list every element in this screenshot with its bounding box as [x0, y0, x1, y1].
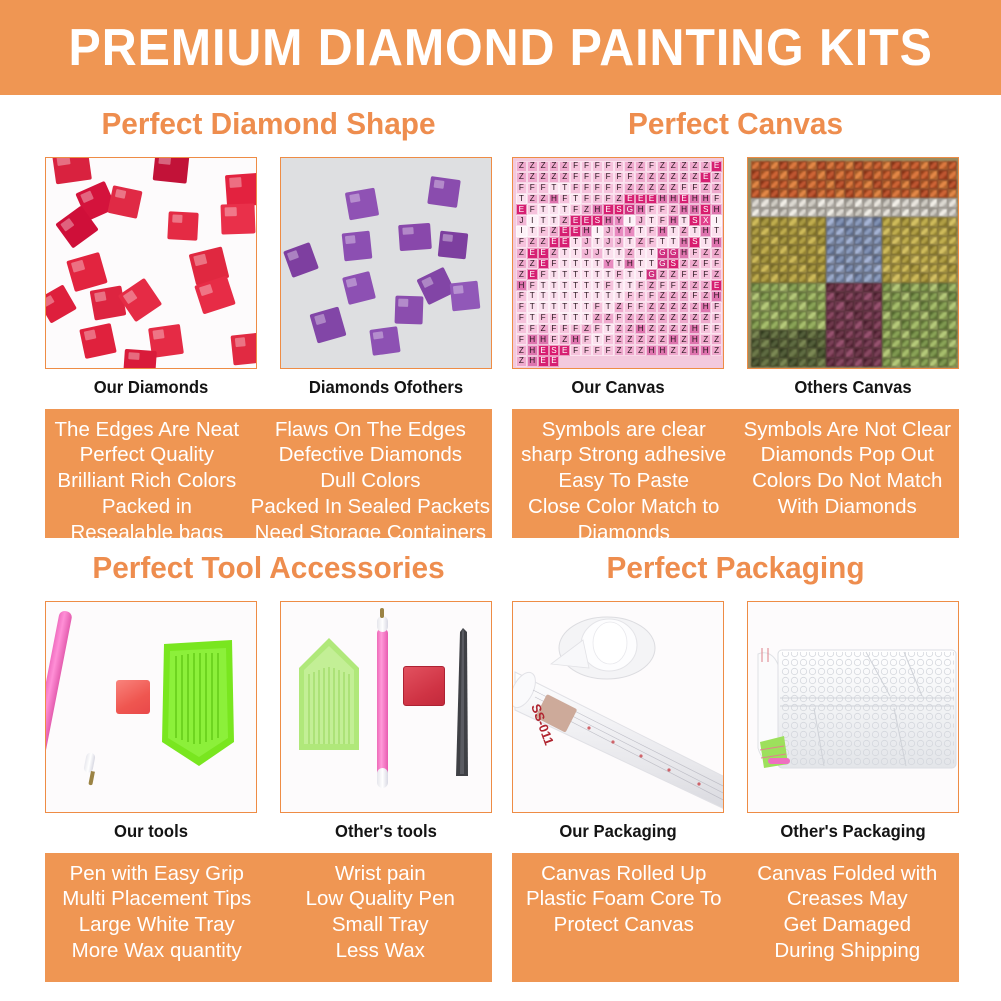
cell-caption: Other's Packaging	[752, 823, 953, 841]
feature-line: Colors Do Not Match	[738, 468, 958, 494]
feature-line: Symbols are clear	[514, 417, 734, 443]
features-others: Wrist pain Low Quality Pen Small Tray Le…	[269, 861, 493, 972]
rolled-canvas-tube-photo: SS-011	[512, 601, 724, 813]
cell-caption: Other's tools	[285, 823, 486, 841]
feature-line: Resealable bags	[47, 520, 247, 546]
pink-pen	[377, 628, 388, 778]
feature-line: Perfect Quality	[47, 442, 247, 468]
image-pair: Our Diamonds Diamonds Ofoth	[45, 157, 492, 397]
feature-line: The Edges Are Neat	[47, 417, 247, 443]
feature-line: Need Storage Containers	[251, 520, 490, 546]
compare-cell-others: Other's tools	[280, 601, 492, 841]
wax-square	[403, 666, 445, 706]
features-ours: Canvas Rolled Up Plastic Foam Core To Pr…	[512, 861, 736, 972]
pen-ferrule-bottom	[377, 768, 388, 788]
feature-line: With Diamonds	[738, 494, 958, 520]
pen-needle	[380, 608, 384, 618]
feature-line: Wrist pain	[271, 861, 491, 887]
section-title: Perfect Canvas	[521, 108, 950, 139]
pen-tip	[83, 752, 96, 773]
cell-caption: Diamonds Ofothers	[285, 379, 486, 397]
green-tray	[160, 638, 236, 768]
feature-line: Low Quality Pen	[271, 886, 491, 912]
green-tray-pen-wax-tweezers-photo	[280, 601, 492, 813]
light-green-tray	[295, 634, 363, 754]
pink-symbol-canvas-photo: ZZZZZFFFFFZZFZZZZZEZZZZZFFFFFFZZZZZZEZFF…	[512, 157, 724, 369]
feature-line: Brilliant Rich Colors	[47, 468, 247, 494]
feature-line: Defective Diamonds	[251, 442, 490, 468]
feature-line: Multi Placement Tips	[47, 886, 267, 912]
feature-line: Symbols Are Not Clear	[738, 417, 958, 443]
features-ours: The Edges Are Neat Perfect Quality Brill…	[45, 417, 249, 528]
feature-line: Creases May	[738, 886, 958, 912]
feature-line: Diamonds	[514, 520, 734, 546]
features-ours: Pen with Easy Grip Multi Placement Tips …	[45, 861, 269, 972]
feature-line: During Shipping	[738, 938, 958, 964]
folded-bubble-mailer-photo	[747, 601, 959, 813]
feature-line: Small Tray	[271, 912, 491, 938]
section-perfect-tool-accessories: Perfect Tool Accessories	[45, 552, 492, 982]
feature-line: Canvas Folded with	[738, 861, 958, 887]
compare-cell-others: Others Canvas	[747, 157, 959, 397]
feature-line: Diamonds Pop Out	[738, 442, 958, 468]
image-pair: ZZZZZFFFFFZZFZZZZZEZZZZZFFFFFFZZZZZZEZFF…	[512, 157, 959, 397]
compare-cell-ours: ZZZZZFFFFFZZFZZZZZEZZZZZFFFFFFZZZZZZEZFF…	[512, 157, 724, 397]
section-perfect-canvas: Perfect Canvas ZZZZZFFFFFZZFZZZZZEZZZZZF…	[512, 108, 959, 538]
symbol-grid: ZZZZZFFFFFZZFZZZZZEZZZZZFFFFFFZZZZZZEZFF…	[516, 161, 722, 367]
feature-line: Less Wax	[271, 938, 491, 964]
feature-line: Packed In Sealed Packets	[251, 494, 490, 520]
pink-pen-green-tray-wax-photo	[45, 601, 257, 813]
bubble-mailer-bag	[754, 640, 959, 780]
feature-line: Close Color Match to	[514, 494, 734, 520]
blurry-symbol-grid	[751, 161, 957, 367]
section-perfect-diamond-shape: Perfect Diamond Shape	[45, 108, 492, 538]
feature-line: Packed in	[47, 494, 247, 520]
feature-line: More Wax quantity	[47, 938, 267, 964]
image-pair: SS-011 Our Packaging	[512, 601, 959, 841]
features-box: The Edges Are Neat Perfect Quality Brill…	[45, 409, 492, 538]
infographic-page: PREMIUM DIAMOND PAINTING KITS Perfect Di…	[0, 0, 1001, 1001]
pink-pen	[45, 610, 73, 760]
section-title: Perfect Diamond Shape	[54, 108, 483, 139]
feature-line: Protect Canvas	[514, 912, 734, 938]
features-others: Canvas Folded with Creases May Get Damag…	[736, 861, 960, 972]
feature-line: Easy To Paste	[514, 468, 734, 494]
cell-caption: Our Packaging	[517, 823, 718, 841]
section-title: Perfect Packaging	[521, 552, 950, 583]
header-band: PREMIUM DIAMOND PAINTING KITS	[0, 0, 1001, 95]
blurry-color-canvas-photo	[747, 157, 959, 369]
compare-cell-others: Other's Packaging	[747, 601, 959, 841]
feature-line: Large White Tray	[47, 912, 267, 938]
page-title: PREMIUM DIAMOND PAINTING KITS	[68, 22, 932, 74]
pen-ferrule-top	[377, 616, 388, 632]
feature-line: Plastic Foam Core To	[514, 886, 734, 912]
cell-caption: Our tools	[50, 823, 251, 841]
features-box: Pen with Easy Grip Multi Placement Tips …	[45, 853, 492, 982]
tweezers	[447, 626, 481, 778]
feature-line: Pen with Easy Grip	[47, 861, 267, 887]
image-pair: Our tools	[45, 601, 492, 841]
feature-line: sharp Strong adhesive	[514, 442, 734, 468]
compare-cell-ours: Our tools	[45, 601, 257, 841]
features-ours: Symbols are clear sharp Strong adhesive …	[512, 417, 736, 528]
features-others: Flaws On The Edges Defective Diamonds Du…	[249, 417, 492, 528]
features-others: Symbols Are Not Clear Diamonds Pop Out C…	[736, 417, 960, 528]
purple-square-diamonds-photo	[280, 157, 492, 369]
canvas-tube-body: SS-011	[512, 664, 724, 813]
cell-caption: Our Canvas	[517, 379, 718, 397]
feature-line: Dull Colors	[251, 468, 490, 494]
compare-cell-ours: Our Diamonds	[45, 157, 257, 397]
feature-line: Get Damaged	[738, 912, 958, 938]
feature-line: Flaws On The Edges	[251, 417, 490, 443]
cell-caption: Others Canvas	[752, 379, 953, 397]
section-perfect-packaging: Perfect Packaging	[512, 552, 959, 982]
cell-caption: Our Diamonds	[50, 379, 251, 397]
wax-square	[116, 680, 150, 714]
section-title: Perfect Tool Accessories	[54, 552, 483, 583]
red-square-diamonds-photo	[45, 157, 257, 369]
pen-needle	[88, 771, 95, 786]
feature-line: Canvas Rolled Up	[514, 861, 734, 887]
features-box: Symbols are clear sharp Strong adhesive …	[512, 409, 959, 538]
features-box: Canvas Rolled Up Plastic Foam Core To Pr…	[512, 853, 959, 982]
compare-cell-others: Diamonds Ofothers	[280, 157, 492, 397]
compare-cell-ours: SS-011 Our Packaging	[512, 601, 724, 841]
